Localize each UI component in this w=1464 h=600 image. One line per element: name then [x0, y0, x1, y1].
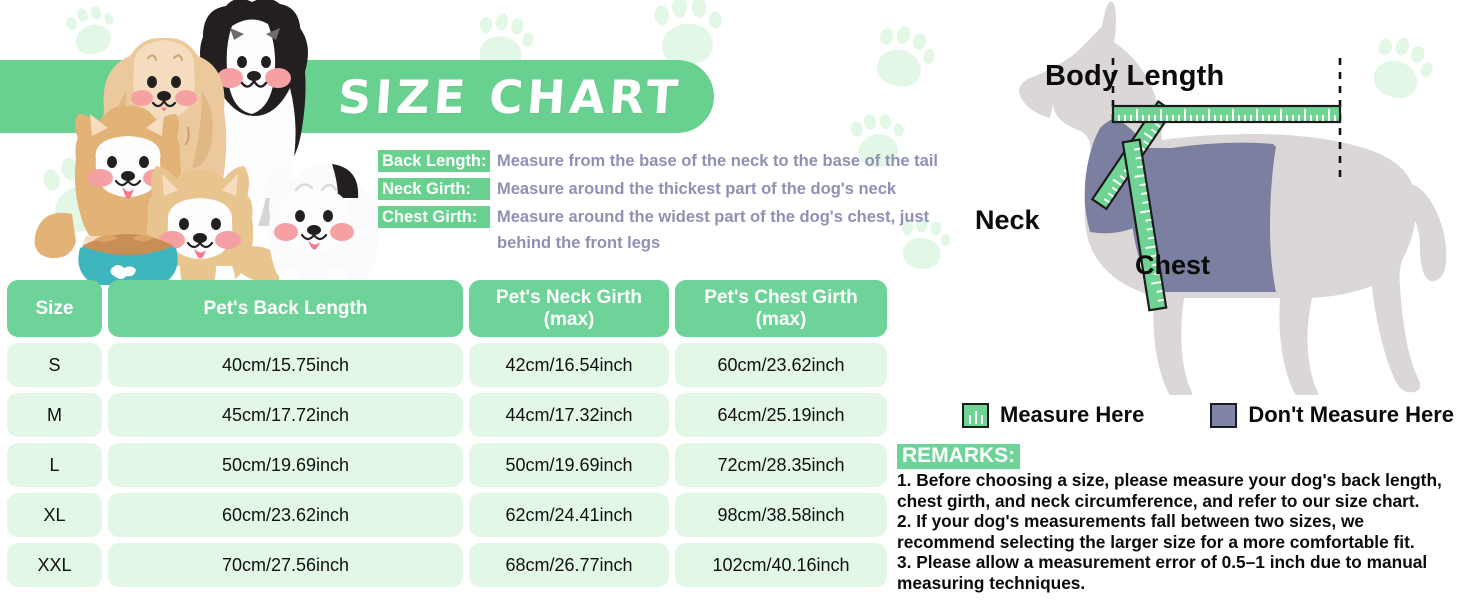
cartoon-dogs-illustration: [8, 0, 398, 285]
cell-size: XL: [7, 493, 102, 537]
definition-value-chest-girth: Measure around the widest part of the do…: [490, 206, 929, 228]
remarks-body: 1. Before choosing a size, please measur…: [897, 470, 1459, 593]
remarks-section: REMARKS: 1. Before choosing a size, plea…: [897, 444, 1459, 593]
cell-chest-girth: 102cm/40.16inch: [675, 543, 887, 587]
definition-key-chest-girth: Chest Girth:: [378, 206, 490, 228]
remarks-label: REMARKS:: [897, 444, 1020, 469]
cell-chest-girth: 60cm/23.62inch: [675, 343, 887, 387]
legend-label-dont-measure-here: Don't Measure Here: [1248, 402, 1454, 428]
diagram-label-neck: Neck: [975, 205, 1040, 236]
definition-value-chest-girth-cont: behind the front legs: [378, 232, 958, 254]
definition-key-neck-girth: Neck Girth:: [378, 178, 490, 200]
measure-here-swatch-icon: [962, 403, 989, 428]
legend-label-measure-here: Measure Here: [1000, 402, 1144, 428]
table-row: XXL 70cm/27.56inch 68cm/26.77inch 102cm/…: [7, 543, 885, 587]
diagram-label-body-length: Body Length: [1045, 60, 1224, 93]
size-chart-page: SIZE CHART: [0, 0, 1464, 600]
table-header-chest-girth: Pet's Chest Girth (max): [675, 280, 887, 337]
cell-chest-girth: 98cm/38.58inch: [675, 493, 887, 537]
table-header-neck-girth: Pet's Neck Girth (max): [469, 280, 669, 337]
remarks-line: measuring techniques.: [897, 573, 1459, 594]
table-row: L 50cm/19.69inch 50cm/19.69inch 72cm/28.…: [7, 443, 885, 487]
cell-size: L: [7, 443, 102, 487]
cell-back-length: 70cm/27.56inch: [108, 543, 463, 587]
legend-item-dont-measure-here: Don't Measure Here: [1210, 402, 1454, 428]
table-row: XL 60cm/23.62inch 62cm/24.41inch 98cm/38…: [7, 493, 885, 537]
cell-chest-girth: 64cm/25.19inch: [675, 393, 887, 437]
table-header-back-length: Pet's Back Length: [108, 280, 463, 337]
size-table: Size Pet's Back Length Pet's Neck Girth …: [7, 280, 885, 593]
table-row: M 45cm/17.72inch 44cm/17.32inch 64cm/25.…: [7, 393, 885, 437]
table-header-chest-girth-line1: Pet's Chest Girth: [704, 287, 857, 308]
remarks-line: chest girth, and neck circumference, and…: [897, 491, 1459, 512]
cell-size: M: [7, 393, 102, 437]
cell-back-length: 45cm/17.72inch: [108, 393, 463, 437]
cell-size: S: [7, 343, 102, 387]
table-header-chest-girth-line2: (max): [756, 309, 807, 330]
cell-back-length: 50cm/19.69inch: [108, 443, 463, 487]
table-header-size: Size: [7, 280, 102, 337]
definition-value-neck-girth: Measure around the thickest part of the …: [490, 178, 896, 200]
table-header-neck-girth-line1: Pet's Neck Girth: [496, 287, 642, 308]
legend-item-measure-here: Measure Here: [962, 402, 1144, 428]
cell-back-length: 60cm/23.62inch: [108, 493, 463, 537]
body-length-ruler: [1113, 106, 1340, 122]
diagram-legend: Measure Here Don't Measure Here: [962, 402, 1454, 428]
remarks-line: 3. Please allow a measurement error of 0…: [897, 552, 1459, 573]
definition-value-back-length: Measure from the base of the neck to the…: [490, 150, 938, 172]
remarks-line: recommend selecting the larger size for …: [897, 532, 1459, 553]
diagram-label-chest: Chest: [1135, 250, 1210, 281]
food-bowl-icon: [78, 234, 177, 285]
table-header-neck-girth-line2: (max): [544, 309, 595, 330]
remarks-line: 2. If your dog's measurements fall betwe…: [897, 511, 1459, 532]
definition-row-chest-girth: Chest Girth: Measure around the widest p…: [378, 206, 958, 231]
cell-back-length: 40cm/15.75inch: [108, 343, 463, 387]
table-header-row: Size Pet's Back Length Pet's Neck Girth …: [7, 280, 885, 337]
cell-neck-girth: 44cm/17.32inch: [469, 393, 669, 437]
cell-neck-girth: 50cm/19.69inch: [469, 443, 669, 487]
dont-measure-here-swatch-icon: [1210, 403, 1237, 428]
definition-row-back-length: Back Length: Measure from the base of th…: [378, 150, 958, 175]
cell-chest-girth: 72cm/28.35inch: [675, 443, 887, 487]
measurement-definitions: Back Length: Measure from the base of th…: [378, 150, 958, 254]
cell-neck-girth: 42cm/16.54inch: [469, 343, 669, 387]
table-row: S 40cm/15.75inch 42cm/16.54inch 60cm/23.…: [7, 343, 885, 387]
definition-row-neck-girth: Neck Girth: Measure around the thickest …: [378, 178, 958, 203]
cell-neck-girth: 68cm/26.77inch: [469, 543, 669, 587]
cell-neck-girth: 62cm/24.41inch: [469, 493, 669, 537]
definition-key-back-length: Back Length:: [378, 150, 490, 172]
remarks-line: 1. Before choosing a size, please measur…: [897, 470, 1459, 491]
cell-size: XXL: [7, 543, 102, 587]
